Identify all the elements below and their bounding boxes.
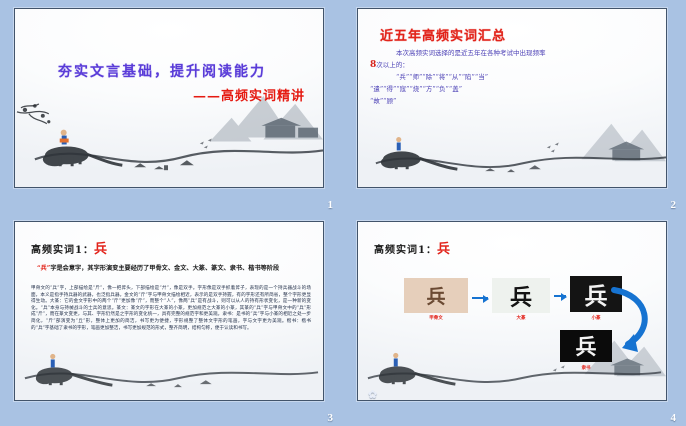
slide-3-title: 高频实词1：兵 — [31, 238, 108, 257]
slide-3-lead-quote: “兵” — [37, 265, 50, 272]
slide-3[interactable]: 高频实词1：兵 “兵”字是会意字，其字形演变主要经历了甲骨文、金文、大篆、篆文、… — [14, 221, 324, 401]
page-number-1: 1 — [328, 199, 334, 211]
arrow-right-icon-1 — [472, 297, 488, 299]
slide-cell-2[interactable]: 近五年高频实词汇总 本次高频实词选择的是近五年在各种考试中出现频率 8次以上的：… — [343, 0, 686, 213]
slide-2-words-line-1: “兵”“师”“除”“将”“从”“陷”“当” — [396, 73, 488, 81]
slide-cell-3[interactable]: 高频实词1：兵 “兵”字是会意字，其字形演变主要经历了甲骨文、金文、大篆、篆文、… — [0, 213, 343, 426]
slide-2-words-line-3: “故”“顾” — [370, 97, 396, 105]
slide-3-lead-rest: 字是会意字，其字形演变主要经历了甲骨文、金文、大篆、篆文、隶书、楷书等阶段 — [50, 265, 279, 272]
slide-4-title: 高频实词1：兵 — [374, 238, 451, 257]
slide-2-words-line-2: “遣”“得”“寇”“烧”“方”“负”“盖” — [370, 85, 462, 93]
slide-2-line-1: 本次高频实词选择的是近五年在各种考试中出现频率 — [396, 49, 546, 57]
star-icon[interactable]: ✿ — [368, 388, 377, 401]
slide-cell-4[interactable]: 高频实词1：兵 兵 甲骨文 兵 大篆 兵 小篆 兵 隶书 — [343, 213, 686, 426]
slide-3-lead: “兵”字是会意字，其字形演变主要经历了甲骨文、金文、大篆、篆文、隶书、楷书等阶段 — [37, 264, 309, 274]
glyph-char-2: 兵 — [510, 280, 532, 312]
slide-1-subtitle: ——高频实词精讲 — [193, 85, 305, 104]
slide-4-title-prefix: 高频实词1： — [374, 245, 437, 256]
slide-1[interactable]: 夯实文言基础，提升阅读能力 ——高频实词精讲 — [14, 8, 324, 188]
glyph-clerical-script: 兵 隶书 — [560, 330, 612, 362]
slide-2-line-2: 次以上的： — [376, 61, 409, 69]
slide-4-title-keyword: 兵 — [437, 242, 451, 257]
slide-deck: 夯实文言基础，提升阅读能力 ——高频实词精讲 1 — [0, 0, 686, 426]
page-number-2: 2 — [671, 199, 677, 211]
page-number-4: 4 — [671, 412, 677, 424]
glyph-caption-2: 大篆 — [492, 315, 550, 321]
page-number-3: 3 — [328, 412, 334, 424]
arrow-curved-icon — [610, 280, 658, 360]
glyph-char-4: 兵 — [576, 331, 597, 361]
slide-1-title: 夯实文言基础，提升阅读能力 — [15, 61, 309, 81]
slide-2-body: 本次高频实词选择的是近五年在各种考试中出现频率 8次以上的： “兵”“师”“除”… — [370, 47, 658, 107]
slide-4[interactable]: 高频实词1：兵 兵 甲骨文 兵 大篆 兵 小篆 兵 隶书 — [357, 221, 667, 401]
slide-3-paragraph: 甲骨文的“兵”字，上部描绘是“斤”，像一把斧头，下部描绘是“廾”，像是双手。字形… — [31, 286, 311, 332]
glyph-caption-1: 甲骨文 — [404, 315, 468, 321]
slide-3-title-prefix: 高频实词1： — [31, 245, 94, 256]
slide-2-title: 近五年高频实词汇总 — [380, 25, 506, 44]
glyph-char-1: 兵 — [426, 282, 445, 309]
glyph-oracle-bone: 兵 甲骨文 — [404, 278, 468, 313]
glyph-great-seal: 兵 大篆 — [492, 278, 550, 313]
slide-3-title-keyword: 兵 — [94, 242, 108, 257]
glyph-caption-4: 隶书 — [560, 365, 612, 371]
slide-cell-1[interactable]: 夯实文言基础，提升阅读能力 ——高频实词精讲 1 — [0, 0, 343, 213]
slide-2[interactable]: 近五年高频实词汇总 本次高频实词选择的是近五年在各种考试中出现频率 8次以上的：… — [357, 8, 667, 188]
arrow-right-icon-2 — [554, 295, 566, 297]
glyph-char-3: 兵 — [585, 277, 608, 311]
